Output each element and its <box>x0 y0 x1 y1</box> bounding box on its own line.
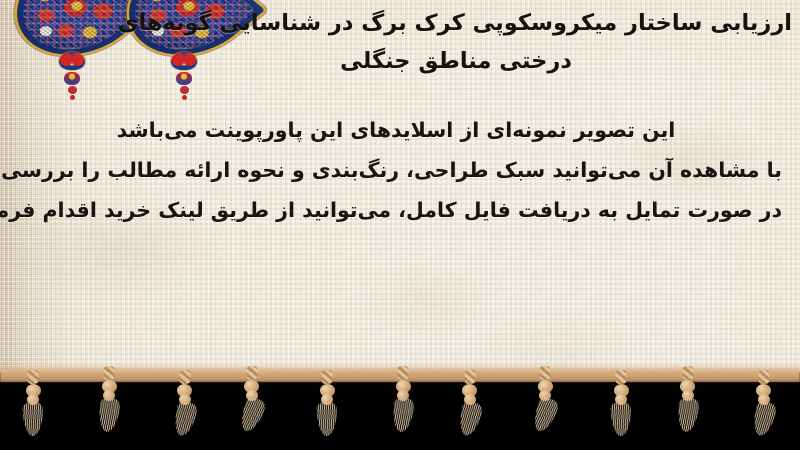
carpet-medallion-left-icon <box>18 0 126 64</box>
fringe-tassel <box>94 380 124 432</box>
fringe-tassel <box>749 384 779 436</box>
fringe-tassel <box>312 384 342 436</box>
slide-body-line-3: در صورت تمایل به دریافت فایل کامل، می‌تو… <box>10 190 782 230</box>
slide-body-line-2: با مشاهده آن می‌توانید سبک طراحی، رنگ‌بن… <box>10 150 782 190</box>
fringe-tassel <box>673 380 703 432</box>
fringe-tassel <box>170 384 200 436</box>
fringe-tassel <box>388 380 418 432</box>
slide-title: ارزیابی ساختار میکروسکوپی کرک برگ در شنا… <box>120 4 792 80</box>
slide-canvas: ارزیابی ساختار میکروسکوپی کرک برگ در شنا… <box>0 0 800 450</box>
fringe-tassel <box>18 384 48 436</box>
slide-body-text: این تصویر نمونه‌ای از اسلایدهای این پاور… <box>10 110 782 230</box>
slide-title-line-1: ارزیابی ساختار میکروسکوپی کرک برگ در شنا… <box>120 4 792 42</box>
slide-body-line-1: این تصویر نمونه‌ای از اسلایدهای این پاور… <box>10 110 782 150</box>
fringe-tassel <box>455 384 485 436</box>
fringe-tassel <box>530 380 560 432</box>
carpet-fringe-tassels <box>0 370 800 450</box>
slide-title-line-2: درختی مناطق جنگلی <box>120 42 792 80</box>
medallion-tassel-left-icon <box>59 52 85 100</box>
fringe-tassel <box>237 380 267 432</box>
fringe-tassel <box>606 384 636 436</box>
